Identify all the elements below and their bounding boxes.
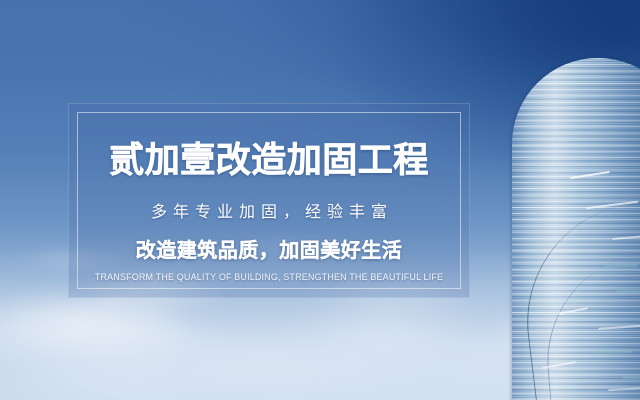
text-overlay-panel: 贰加壹改造加固工程 多年专业加固，经验丰富 改造建筑品质，加固美好生活 TRAN… <box>68 103 470 298</box>
curved-glass-tower <box>512 58 640 400</box>
hero-banner: 贰加壹改造加固工程 多年专业加固，经验丰富 改造建筑品质，加固美好生活 TRAN… <box>0 0 640 400</box>
panel-inner-border: 贰加壹改造加固工程 多年专业加固，经验丰富 改造建筑品质，加固美好生活 TRAN… <box>77 112 461 289</box>
tower-window-glint-1 <box>604 264 638 267</box>
tower-window-glint-4 <box>622 376 640 379</box>
tower-window-glint-3 <box>596 350 632 353</box>
banner-tagline: 改造建筑品质，加固美好生活 <box>78 241 460 261</box>
skyscraper-photo-region <box>500 0 640 400</box>
banner-headline: 贰加壹改造加固工程 <box>78 143 460 178</box>
banner-subheading: 多年专业加固，经验丰富 <box>78 205 460 221</box>
banner-english-caption: TRANSFORM THE QUALITY OF BUILDING, STREN… <box>78 273 460 282</box>
tower-window-glint-2 <box>616 290 640 293</box>
